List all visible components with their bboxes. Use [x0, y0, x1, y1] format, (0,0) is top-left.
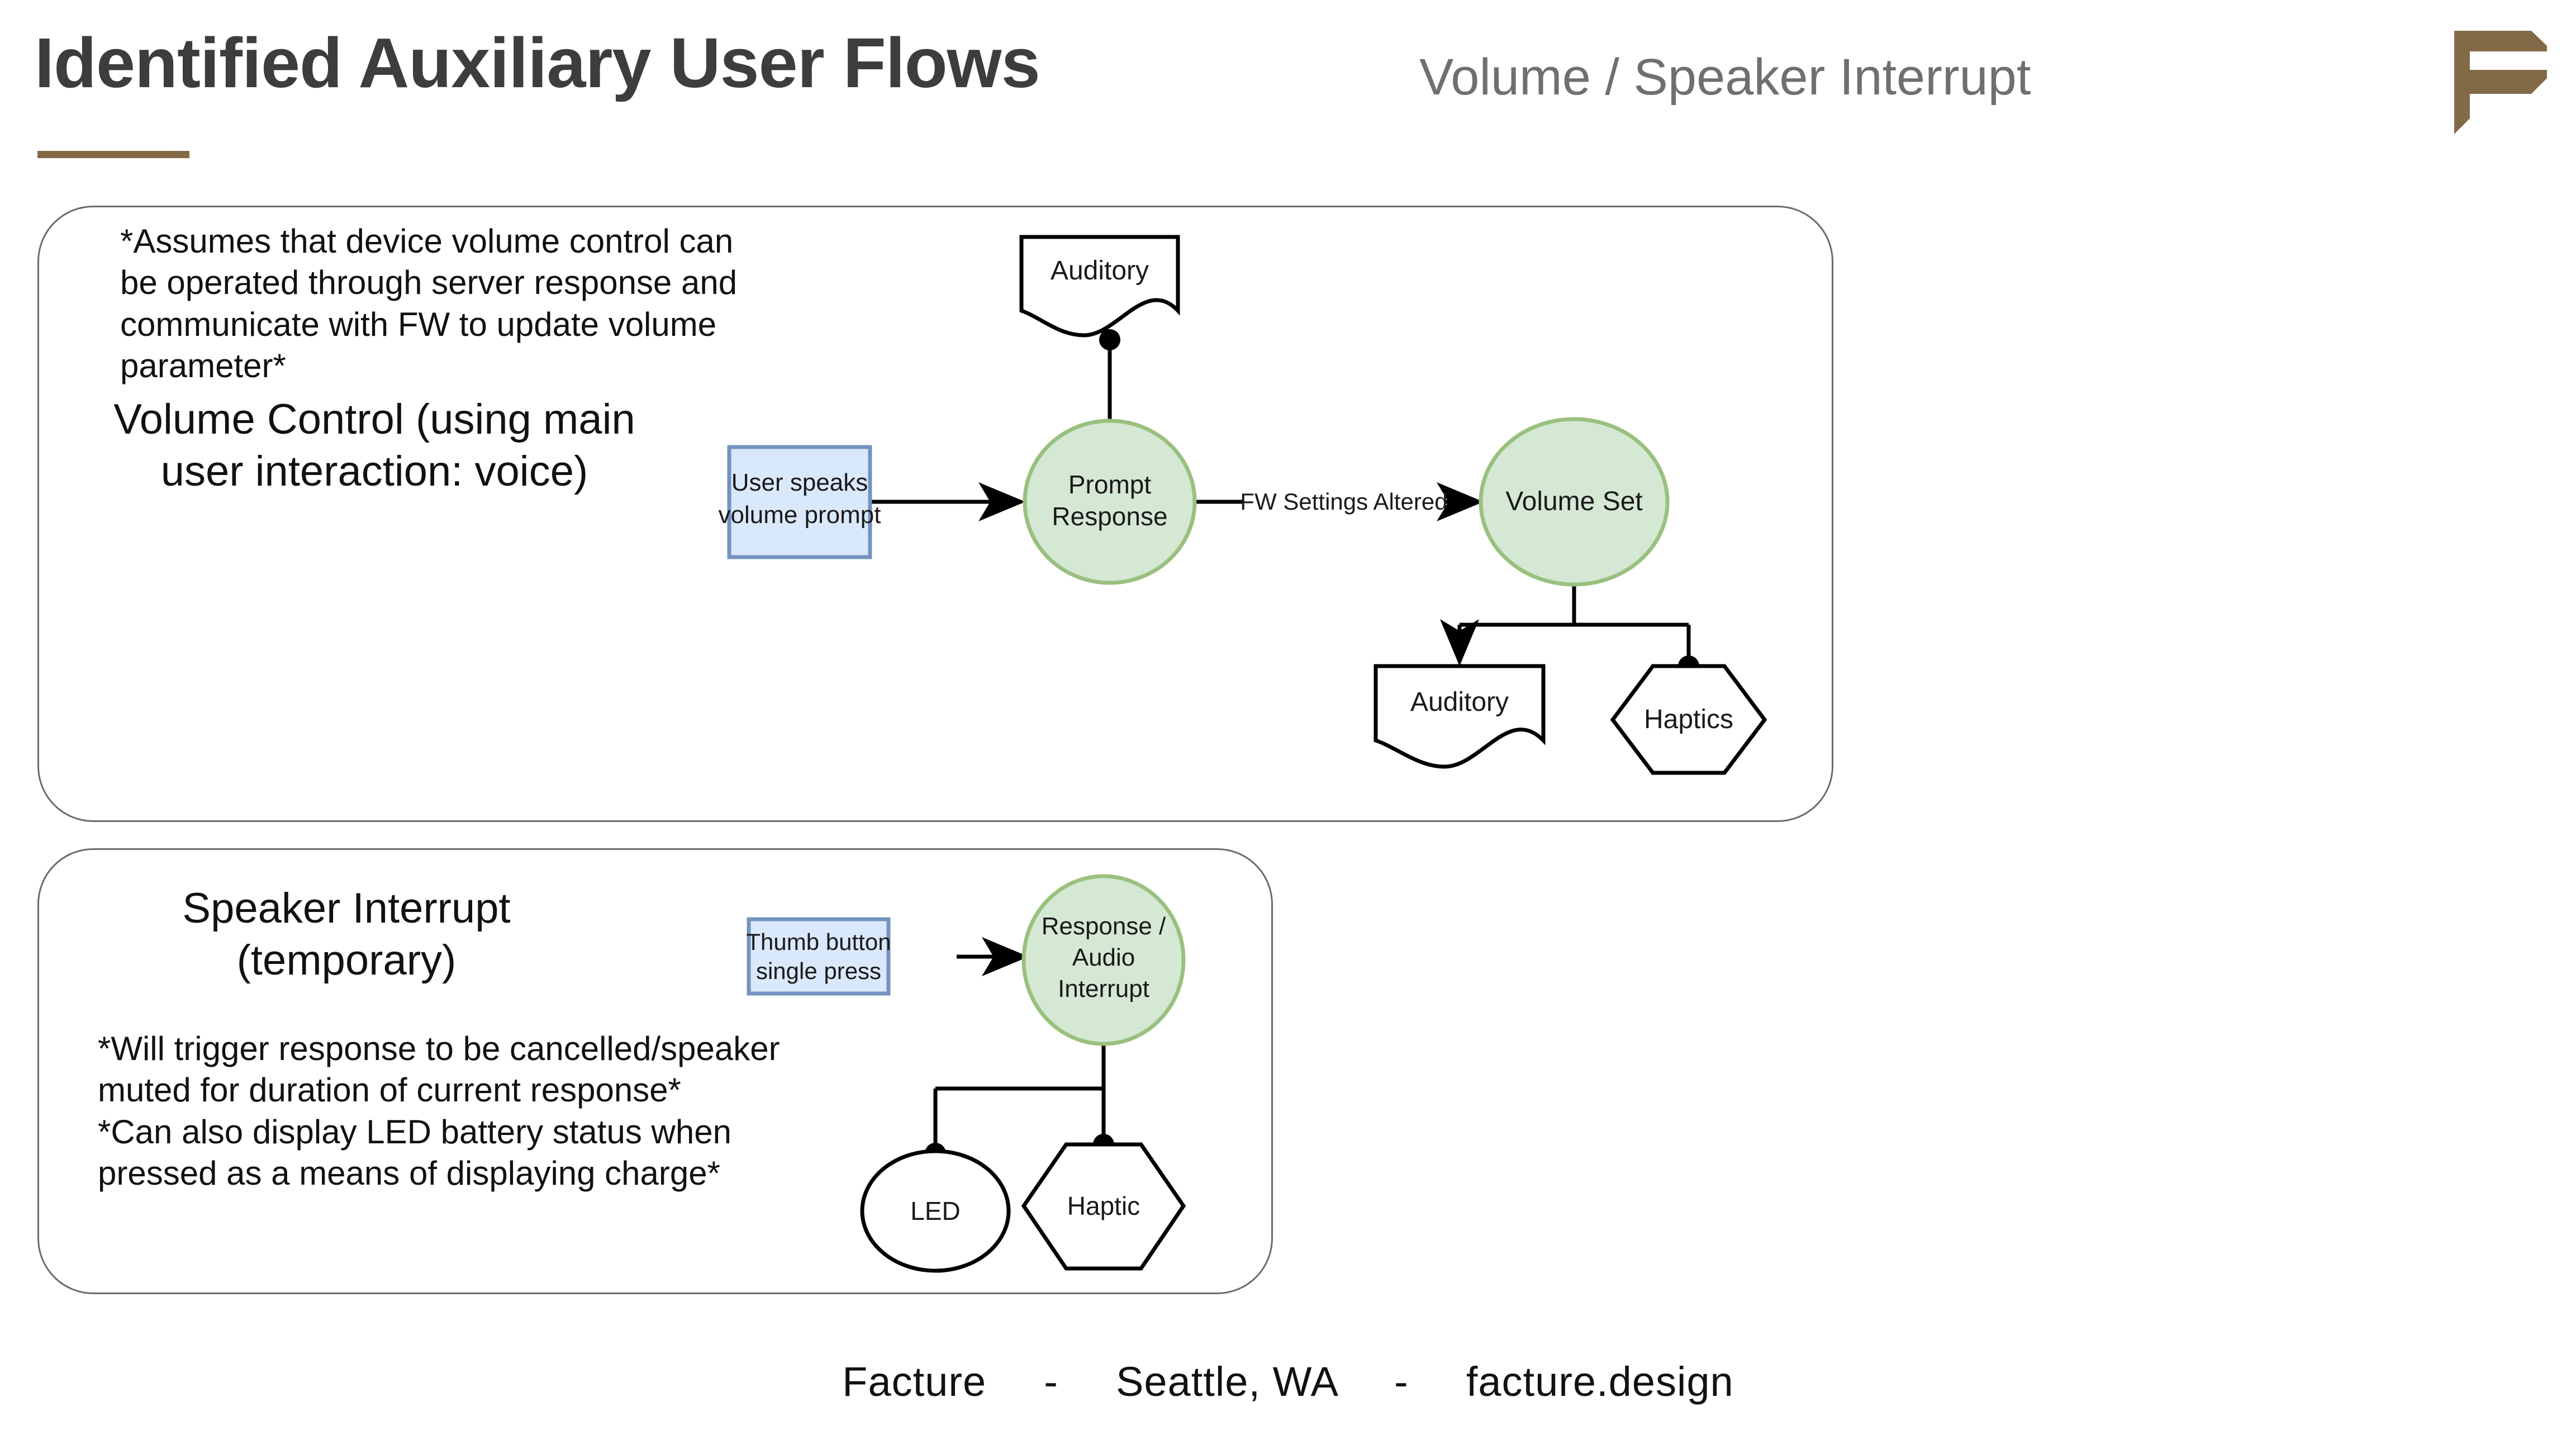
node-response-line3: Interrupt [1058, 975, 1149, 1002]
footer-website: facture.design [1466, 1358, 1734, 1405]
node-haptic-label: Haptic [1067, 1191, 1140, 1220]
node-thumb-button-line2: single press [756, 958, 881, 984]
footer-separator-2: - [1394, 1358, 1409, 1405]
footer-location: Seattle, WA [1116, 1358, 1337, 1405]
node-thumb-button-line1: Thumb button [746, 929, 891, 955]
node-led-label: LED [910, 1196, 960, 1225]
footer-separator-1: - [1044, 1358, 1058, 1405]
footer-company: Facture [842, 1358, 986, 1405]
speaker-interrupt-diagram: Thumb button single press Response / Aud… [0, 0, 2576, 1435]
page-footer: Facture - Seattle, WA - facture.design [0, 1358, 2576, 1405]
node-response-line2: Audio [1072, 944, 1135, 971]
node-response-line1: Response / [1042, 913, 1166, 940]
